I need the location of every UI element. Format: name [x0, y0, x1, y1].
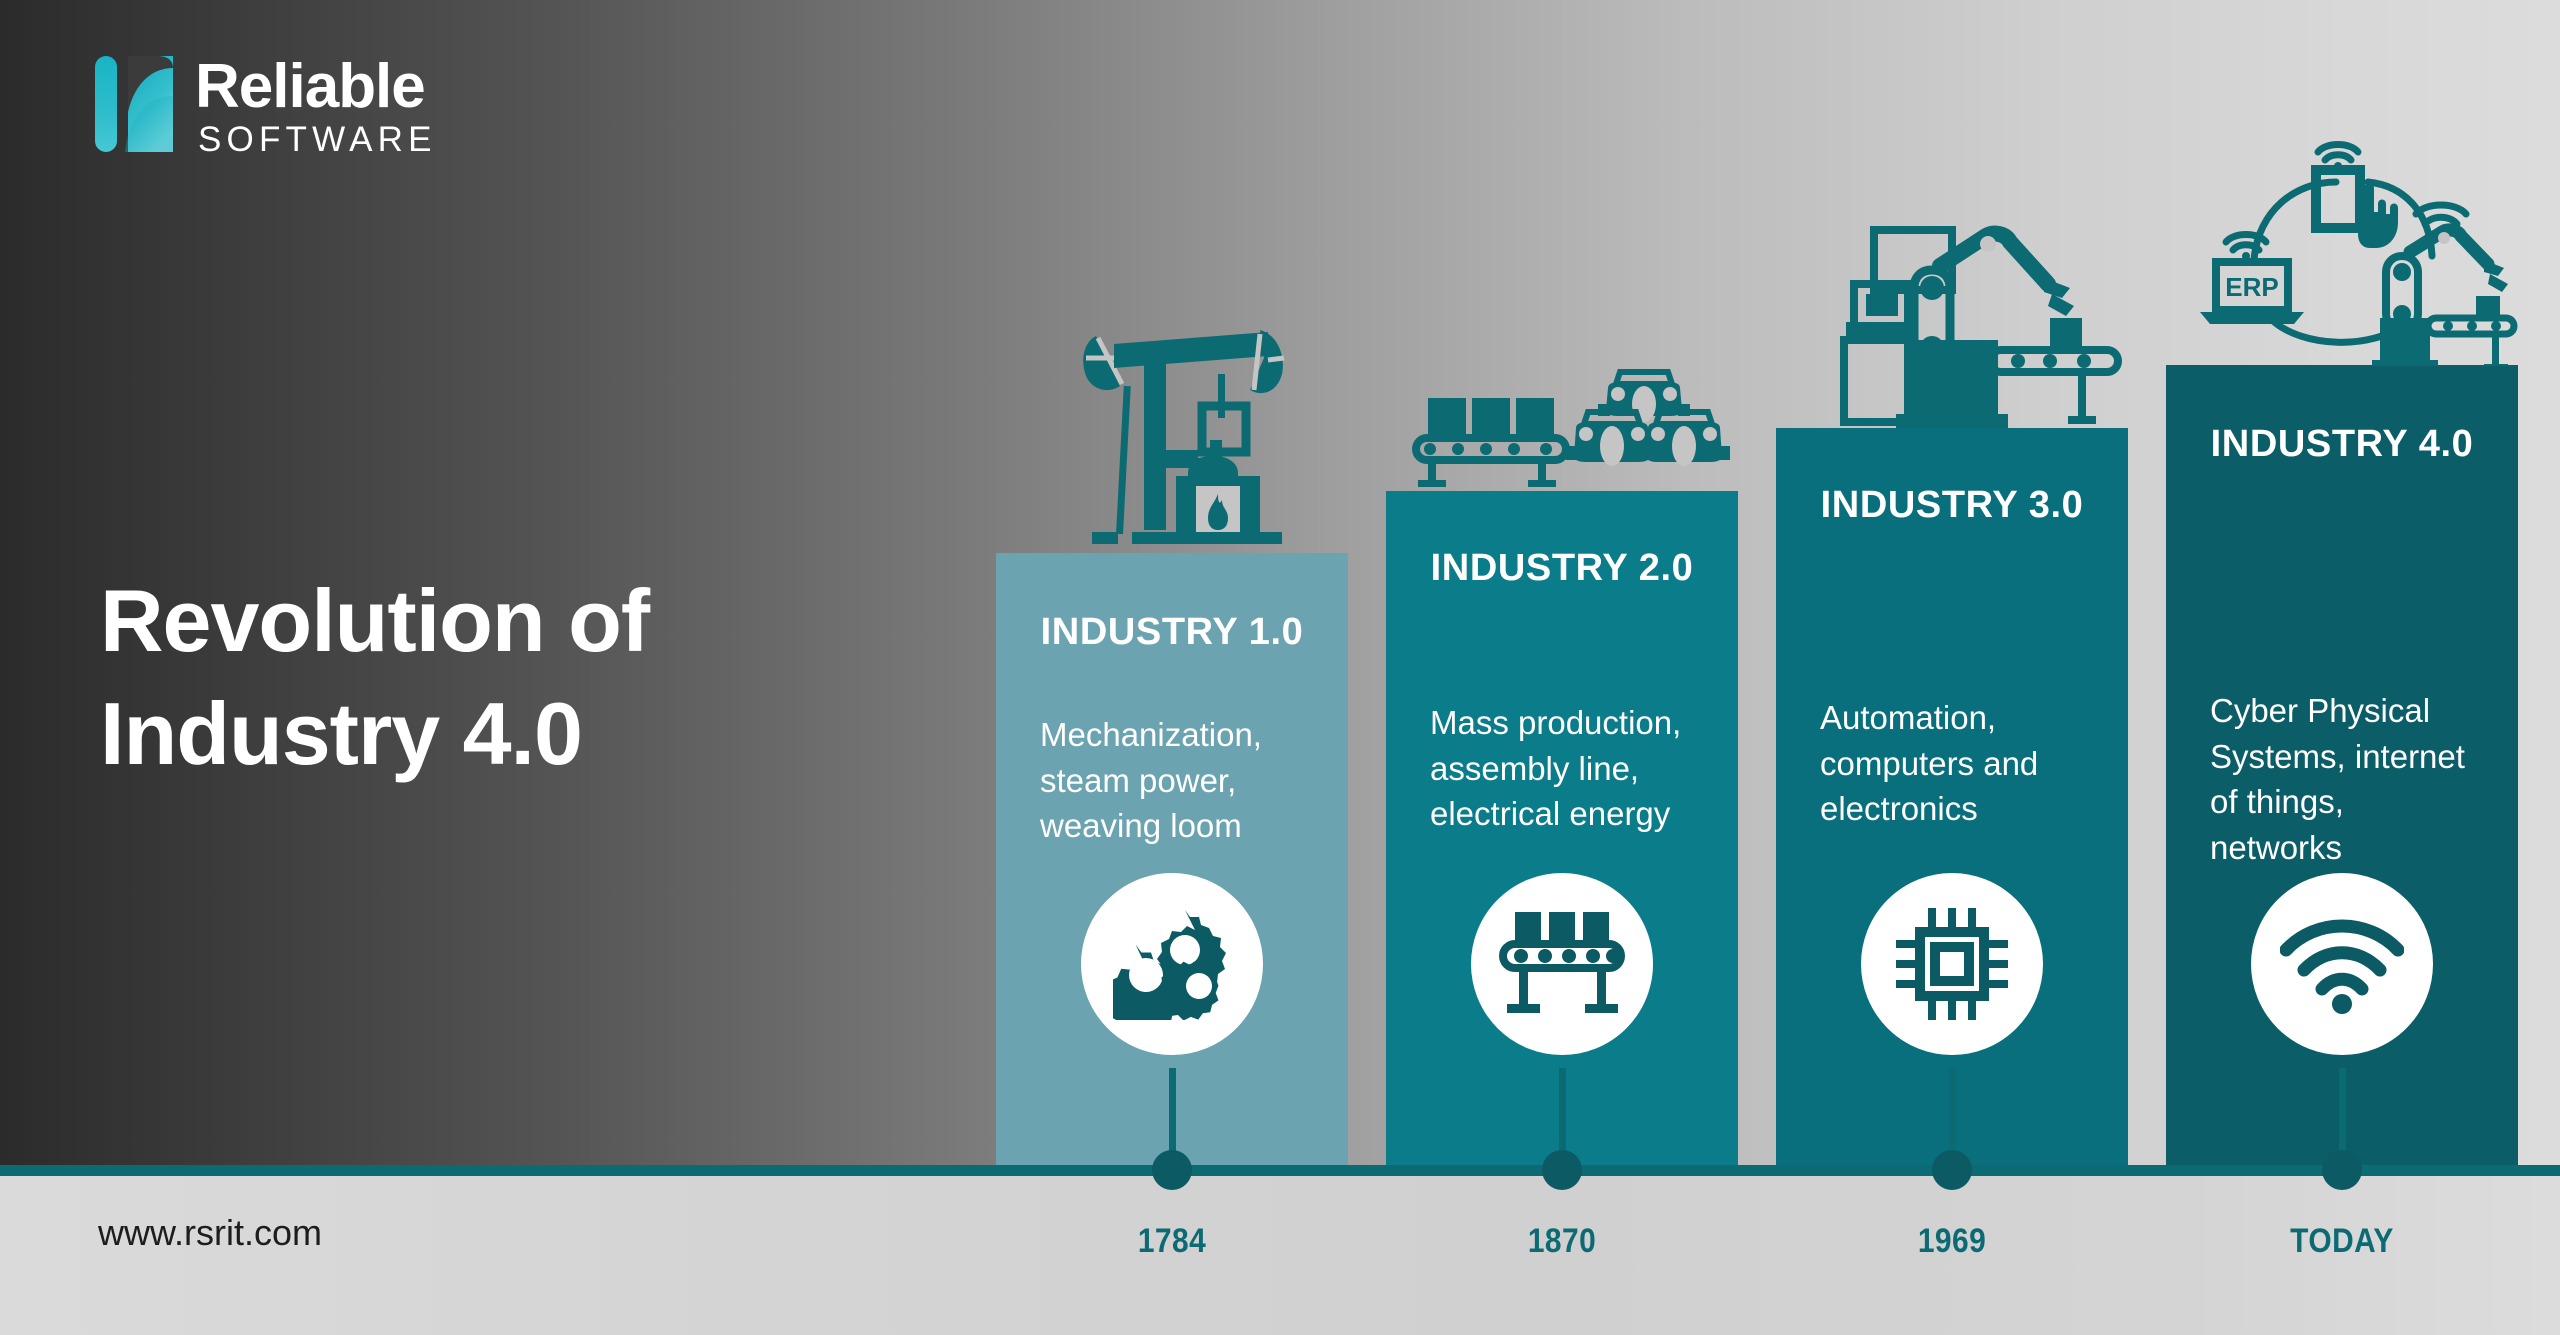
stage-badge-industry-4[interactable]	[2238, 860, 2446, 1068]
stage-badge-industry-1[interactable]	[1068, 860, 1276, 1068]
timeline-marker-1784[interactable]	[1152, 1150, 1192, 1190]
reliable-r-mark-icon	[95, 52, 181, 161]
page-title-line-2: Industry 4.0	[100, 678, 649, 791]
brand-name: Reliable	[195, 56, 437, 118]
conveyor-belt-icon	[1499, 912, 1625, 1016]
erp-label: ERP	[2225, 272, 2278, 302]
infographic-canvas: Reliable SOFTWARE Revolution of Industry…	[0, 0, 2560, 1335]
stage-description-industry-4: Cyber Physical Systems, internet of thin…	[2210, 688, 2474, 870]
timeline-marker-1870[interactable]	[1542, 1150, 1582, 1190]
steam-engine-icon	[1078, 328, 1304, 548]
brand-subtitle: SOFTWARE	[198, 122, 437, 157]
timeline-marker-today[interactable]	[2322, 1150, 2362, 1190]
brand-logo[interactable]: Reliable SOFTWARE	[95, 52, 437, 161]
timeline-year-1: 1784	[1075, 1222, 1269, 1261]
timeline-year-2: 1870	[1465, 1222, 1659, 1261]
stage-title-industry-2: INDUSTRY 2.0	[1430, 547, 1694, 590]
timeline-year-4: TODAY	[2245, 1222, 2439, 1261]
stage-badge-industry-3[interactable]	[1848, 860, 2056, 1068]
stage-title-industry-3: INDUSTRY 3.0	[1820, 484, 2084, 527]
stage-badge-industry-2[interactable]	[1458, 860, 1666, 1068]
stage-description-industry-2: Mass production, assembly line, electric…	[1430, 700, 1694, 837]
stage-title-industry-1: INDUSTRY 1.0	[1040, 611, 1304, 654]
stage-description-industry-3: Automation, computers and electronics	[1820, 695, 2084, 832]
stage-description-industry-1: Mechanization, steam power, weaving loom	[1040, 712, 1304, 849]
iot-network-erp-icon: ERP	[2192, 138, 2526, 366]
microchip-icon	[1894, 906, 2010, 1022]
timeline-marker-1969[interactable]	[1932, 1150, 1972, 1190]
page-title: Revolution of Industry 4.0	[100, 565, 649, 790]
stage-title-industry-4: INDUSTRY 4.0	[2210, 423, 2474, 466]
timeline-axis	[0, 1165, 2560, 1176]
timeline-year-3: 1969	[1855, 1222, 2049, 1261]
gears-icon	[1113, 908, 1231, 1020]
page-title-line-1: Revolution of	[100, 565, 649, 678]
wifi-icon	[2280, 914, 2404, 1014]
assembly-line-cars-icon	[1394, 368, 1738, 490]
website-url[interactable]: www.rsrit.com	[98, 1212, 322, 1254]
background-bottom-gradient	[0, 1172, 2560, 1335]
robot-arm-computer-icon	[1838, 222, 2128, 432]
